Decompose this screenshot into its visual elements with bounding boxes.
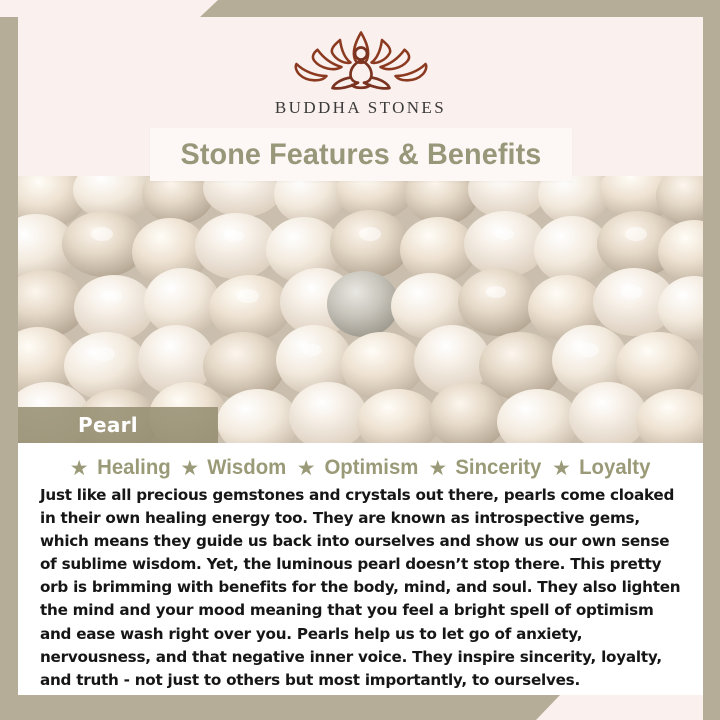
star-icon: ★ [428,458,447,479]
star-icon: ★ [552,458,571,479]
section-title-banner: Stone Features & Benefits [150,128,572,181]
infographic-page: BUDDHA STONES [18,17,703,695]
benefit-label: Wisdom [207,456,286,480]
frame-bottom-border [0,695,560,720]
page-title: Stone Features & Benefits [181,138,542,172]
lotus-meditation-icon [286,25,436,97]
description-text: Just like all precious gemstones and cry… [40,484,681,692]
benefit-loyalty: ★ Loyalty [552,456,651,480]
benefit-optimism: ★ Optimism [297,456,420,480]
benefit-wisdom: ★ Wisdom [180,456,287,480]
brand-header: BUDDHA STONES [18,17,703,127]
stone-name-bar: Pearl [18,407,218,443]
description-card: ★ Healing ★ Wisdom ★ Optimism ★ Sincerit… [18,443,703,695]
pearl-photo [18,176,703,443]
benefit-label: Sincerity [456,456,542,480]
star-icon: ★ [180,458,199,479]
pearl-photo-graphic [18,176,703,443]
benefits-row: ★ Healing ★ Wisdom ★ Optimism ★ Sincerit… [18,443,703,480]
frame-left-border [0,17,18,720]
benefit-sincerity: ★ Sincerity [428,456,543,480]
star-icon: ★ [297,458,316,479]
brand-name: BUDDHA STONES [275,98,446,118]
frame-right-border [703,0,720,720]
frame-top-border [200,0,720,17]
benefit-label: Healing [97,456,171,480]
benefit-healing: ★ Healing [70,456,172,480]
star-icon: ★ [70,458,89,479]
stone-name-label: Pearl [78,413,138,437]
benefit-label: Optimism [324,456,418,480]
benefit-label: Loyalty [579,456,650,480]
